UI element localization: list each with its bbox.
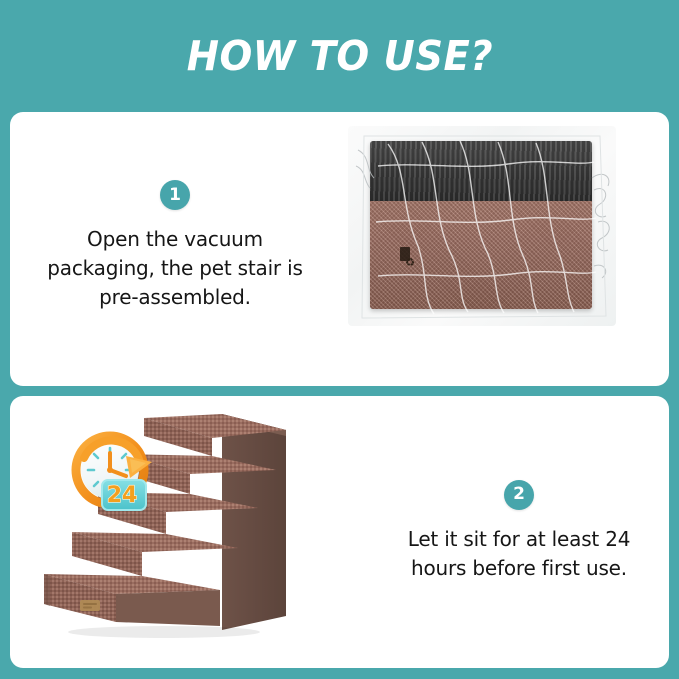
step-2-description: Let it sit for at least 24 hours before …: [394, 525, 644, 583]
step-2-image-column: 24: [10, 396, 369, 668]
svg-text:24: 24: [107, 483, 138, 508]
page-header: HOW TO USE?: [0, 0, 679, 112]
step-1-badge: 1: [160, 180, 190, 210]
page-title: HOW TO USE?: [186, 36, 492, 77]
step-1-description: Open the vacuum packaging, the pet stair…: [45, 225, 305, 312]
24-hour-clock-icon: 24: [68, 428, 160, 516]
product-fabric-section: ♻: [370, 201, 592, 309]
step-1-text-column: 1 Open the vacuum packaging, the pet sta…: [10, 112, 340, 386]
step-1-image-column: ♻: [340, 112, 669, 386]
how-to-use-page: HOW TO USE? 1 Open the vacuum packaging,…: [0, 0, 679, 679]
vacuum-packaging-photo: ♻: [348, 126, 616, 326]
compressed-product: ♻: [370, 141, 592, 309]
step-2-badge: 2: [504, 480, 534, 510]
step-card-1: 1 Open the vacuum packaging, the pet sta…: [10, 112, 669, 386]
recycle-symbol-icon: ♻: [404, 257, 416, 269]
product-dark-section: [370, 141, 592, 201]
step-card-2: 24 2 Let it sit for at least 24 hours be…: [10, 396, 669, 668]
step-2-text-column: 2 Let it sit for at least 24 hours befor…: [369, 396, 669, 668]
